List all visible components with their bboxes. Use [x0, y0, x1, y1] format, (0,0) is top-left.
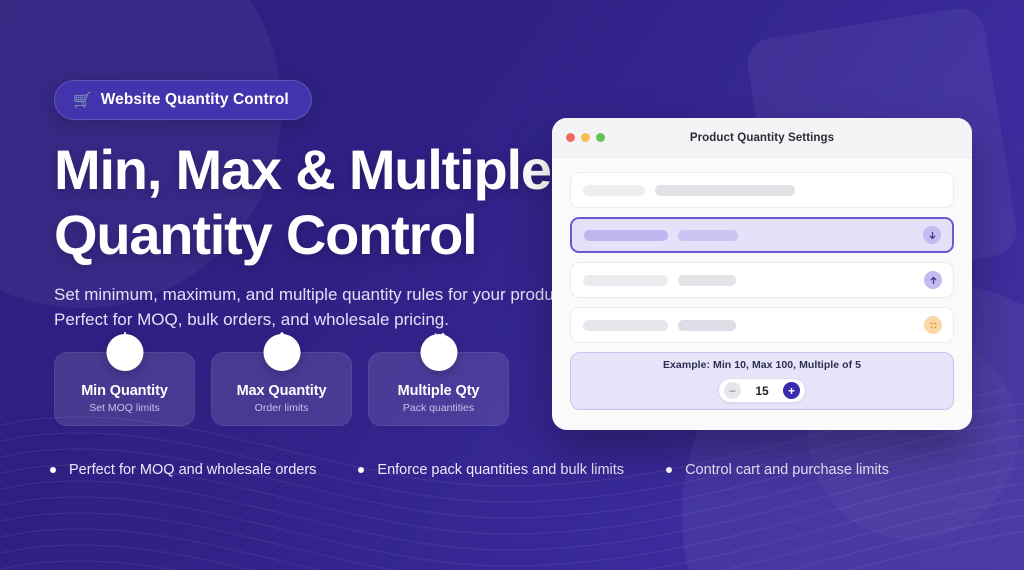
- hero-banner: 🛒 Website Quantity Control Min, Max & Mu…: [0, 0, 1024, 570]
- feature-card-multiple-qty[interactable]: Multiple Qty Pack quantities: [368, 352, 509, 426]
- skeleton-label: [583, 275, 668, 286]
- benefit-label: Control cart and purchase limits: [685, 462, 889, 478]
- arrow-down-icon: [106, 334, 143, 371]
- skeleton-label: [583, 185, 645, 196]
- hero-badge-label: Website Quantity Control: [101, 91, 289, 109]
- headline-line-1: Min, Max & Multiple: [54, 138, 551, 201]
- benefit-list: Perfect for MOQ and wholesale orders Enf…: [50, 462, 889, 478]
- product-settings-window: Product Quantity Settings: [552, 118, 972, 430]
- feature-card-title: Multiple Qty: [398, 383, 480, 399]
- arrow-down-icon[interactable]: [923, 226, 941, 244]
- settings-row[interactable]: [570, 172, 954, 208]
- list-item: Perfect for MOQ and wholesale orders: [50, 462, 316, 478]
- page-title: Min, Max & Multiple Quantity Control: [54, 138, 614, 268]
- bullet-dot-icon: [50, 467, 56, 473]
- skeleton-value: [678, 320, 736, 331]
- feature-card-subtitle: Set MOQ limits: [89, 402, 160, 414]
- dots-icon[interactable]: [924, 316, 942, 334]
- list-item: Control cart and purchase limits: [666, 462, 889, 478]
- skeleton-label: [583, 320, 668, 331]
- window-title: Product Quantity Settings: [552, 132, 972, 144]
- bullet-dot-icon: [666, 467, 672, 473]
- headline-line-2: Quantity Control: [54, 203, 477, 266]
- arrow-up-icon[interactable]: [924, 271, 942, 289]
- quantity-stepper[interactable]: − 15 +: [718, 378, 806, 403]
- increment-button[interactable]: +: [783, 382, 800, 399]
- example-panel: Example: Min 10, Max 100, Multiple of 5 …: [570, 352, 954, 410]
- feature-card-min-quantity[interactable]: Min Quantity Set MOQ limits: [54, 352, 195, 426]
- hero-subheadline: Set minimum, maximum, and multiple quant…: [54, 282, 594, 333]
- quantity-value: 15: [745, 384, 779, 398]
- skeleton-label: [584, 230, 668, 241]
- list-item: Enforce pack quantities and bulk limits: [358, 462, 624, 478]
- benefit-label: Enforce pack quantities and bulk limits: [377, 462, 624, 478]
- feature-card-title: Max Quantity: [237, 383, 327, 399]
- feature-card-subtitle: Pack quantities: [403, 402, 474, 414]
- bullet-dot-icon: [358, 467, 364, 473]
- hero-badge: 🛒 Website Quantity Control: [54, 80, 312, 120]
- feature-card-max-quantity[interactable]: Max Quantity Order limits: [211, 352, 352, 426]
- window-body: Example: Min 10, Max 100, Multiple of 5 …: [552, 158, 972, 410]
- settings-row[interactable]: [570, 307, 954, 343]
- skeleton-value: [655, 185, 795, 196]
- settings-row[interactable]: [570, 262, 954, 298]
- settings-row-selected[interactable]: [570, 217, 954, 253]
- sparkle-icon: [420, 334, 457, 371]
- skeleton-value: [678, 230, 738, 241]
- benefit-label: Perfect for MOQ and wholesale orders: [69, 462, 316, 478]
- feature-card-list: Min Quantity Set MOQ limits Max Quantity…: [54, 352, 509, 426]
- window-titlebar: Product Quantity Settings: [552, 118, 972, 158]
- arrow-up-icon: [263, 334, 300, 371]
- decrement-button[interactable]: −: [724, 382, 741, 399]
- feature-card-subtitle: Order limits: [255, 402, 309, 414]
- skeleton-value: [678, 275, 736, 286]
- hero-content: 🛒 Website Quantity Control Min, Max & Mu…: [54, 80, 614, 333]
- example-label: Example: Min 10, Max 100, Multiple of 5: [663, 359, 861, 371]
- shopping-cart-icon: 🛒: [73, 93, 92, 108]
- feature-card-title: Min Quantity: [81, 383, 168, 399]
